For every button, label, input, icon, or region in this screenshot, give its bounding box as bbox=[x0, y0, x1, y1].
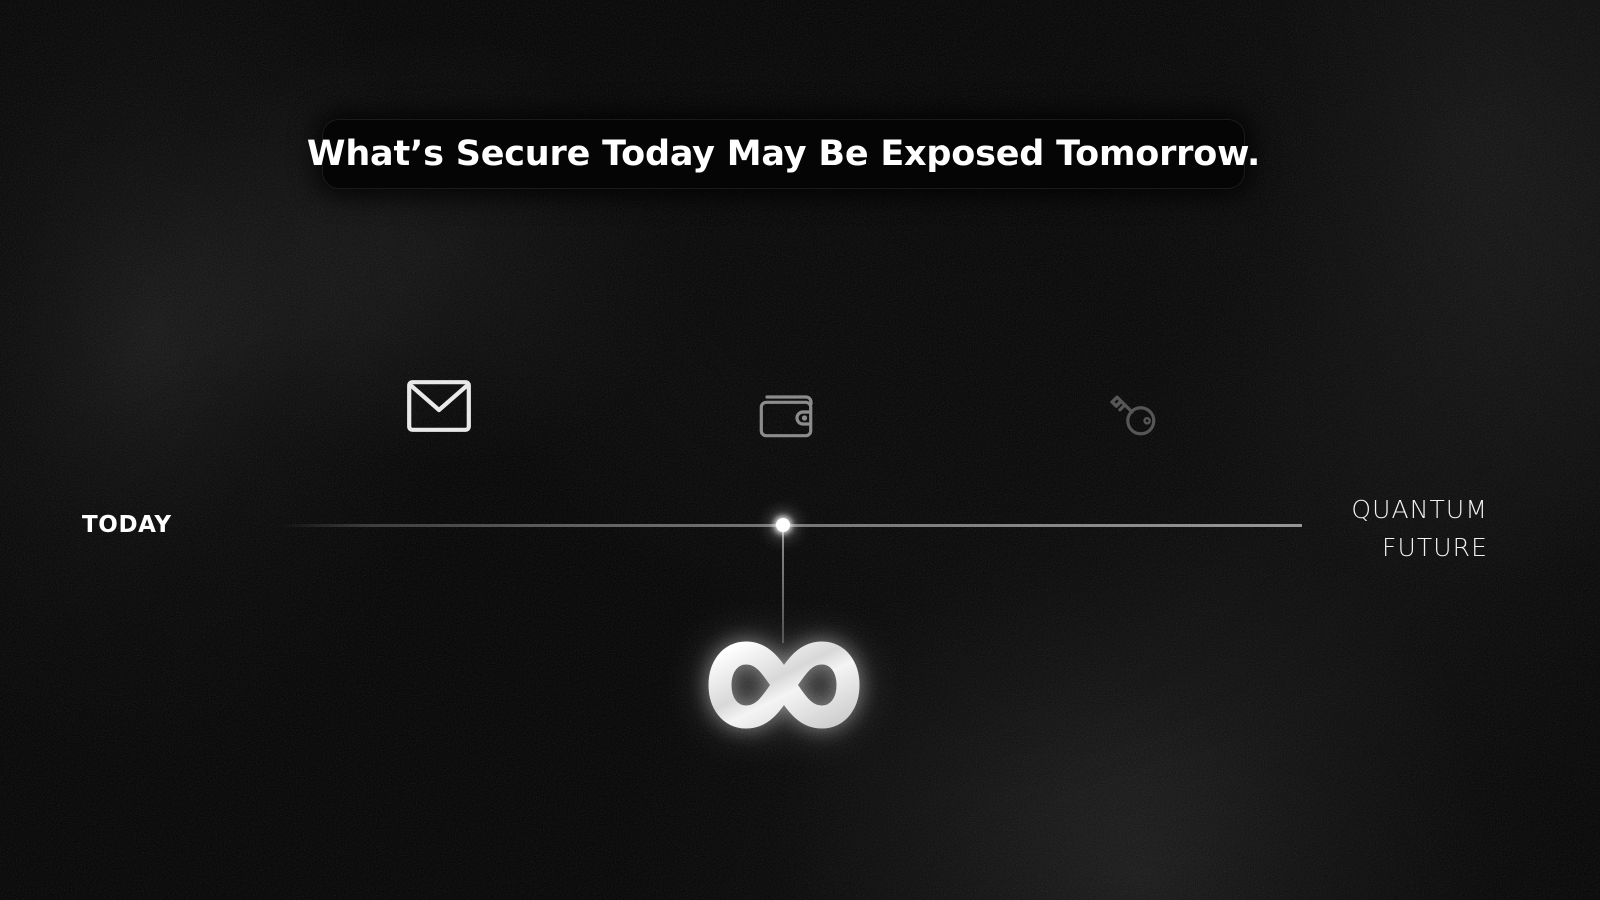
timeline-track bbox=[278, 524, 1302, 527]
wallet-icon bbox=[759, 390, 819, 445]
timeline-end-label-line2: FUTURE bbox=[1351, 529, 1488, 567]
timeline-connector-line bbox=[782, 531, 784, 643]
timeline-end-label: QUANTUM FUTURE bbox=[1351, 491, 1488, 567]
headline-pill: What’s Secure Today May Be Exposed Tomor… bbox=[322, 119, 1245, 189]
timeline-node-marker bbox=[776, 518, 790, 532]
infinity-logo bbox=[706, 640, 862, 730]
mail-icon bbox=[407, 380, 471, 437]
headline-text: What’s Secure Today May Be Exposed Tomor… bbox=[307, 134, 1260, 174]
timeline-end-label-line1: QUANTUM bbox=[1351, 491, 1488, 529]
key-icon bbox=[1104, 386, 1162, 445]
hero-section: What’s Secure Today May Be Exposed Tomor… bbox=[0, 0, 1600, 900]
timeline-start-label: TODAY bbox=[82, 512, 172, 538]
